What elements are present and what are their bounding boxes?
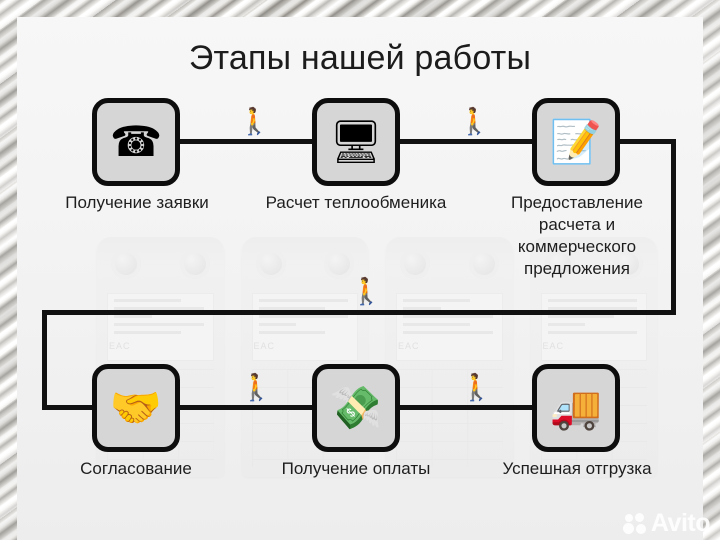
connector-left-vertical — [42, 310, 47, 410]
step-box-5[interactable]: 💸 — [312, 364, 400, 452]
step-box-2[interactable]: 🖥 — [312, 98, 400, 186]
step-label-2: Расчет теплообменика — [262, 192, 450, 214]
plate-port-icon — [400, 249, 430, 279]
walking-person-icon: 🚶 — [240, 374, 272, 400]
eac-mark: EAC — [543, 341, 565, 351]
step-label-1: Получение заявки — [30, 192, 244, 214]
plate-port-icon — [111, 249, 141, 279]
delivery-truck-icon: 🚚 — [550, 387, 602, 429]
money-with-wings-icon: 💸 — [330, 387, 382, 429]
page-title: Этапы нашей работы — [17, 39, 703, 78]
step-box-6[interactable]: 🚚 — [532, 364, 620, 452]
telephone-icon: ☎ — [110, 121, 162, 163]
step-label-5: Получение оплаты — [262, 458, 450, 480]
connector-right-vertical — [671, 139, 676, 315]
connector-step4-step5 — [176, 405, 324, 410]
walking-person-icon: 🚶 — [458, 108, 490, 134]
plate-port-icon — [256, 249, 286, 279]
step-label-3: Предоставление расчета и коммерческого п… — [486, 192, 668, 280]
plate-port-icon — [180, 249, 210, 279]
eac-mark: EAC — [254, 341, 276, 351]
avito-watermark-text: Avito — [651, 511, 710, 536]
walking-person-icon: 🚶 — [460, 374, 492, 400]
plate-port-icon — [324, 249, 354, 279]
connector-step1-step2 — [176, 139, 324, 144]
connector-step2-step3 — [396, 139, 544, 144]
memo-pencil-icon: 📝 — [550, 121, 602, 163]
avito-watermark: Avito — [623, 511, 710, 536]
walking-person-icon: 🚶 — [238, 108, 270, 134]
step-box-4[interactable]: 🤝 — [92, 364, 180, 452]
avito-logo-icon — [623, 513, 647, 535]
step-box-3[interactable]: 📝 — [532, 98, 620, 186]
handshake-icon: 🤝 — [110, 387, 162, 429]
step-box-1[interactable]: ☎ — [92, 98, 180, 186]
eac-mark: EAC — [398, 341, 420, 351]
step-label-4: Согласование — [46, 458, 226, 480]
walking-person-icon: 🚶 — [350, 278, 382, 304]
desktop-computer-icon: 🖥 — [329, 121, 382, 163]
eac-mark: EAC — [109, 341, 131, 351]
connector-step5-step6 — [396, 405, 544, 410]
infographic-canvas: EAC EAC EAC — [0, 0, 720, 540]
connector-left-step4 — [42, 405, 98, 410]
connector-step3-right — [616, 139, 676, 144]
connector-middle-horizontal — [42, 310, 676, 315]
step-label-6: Успешная отгрузка — [484, 458, 670, 480]
